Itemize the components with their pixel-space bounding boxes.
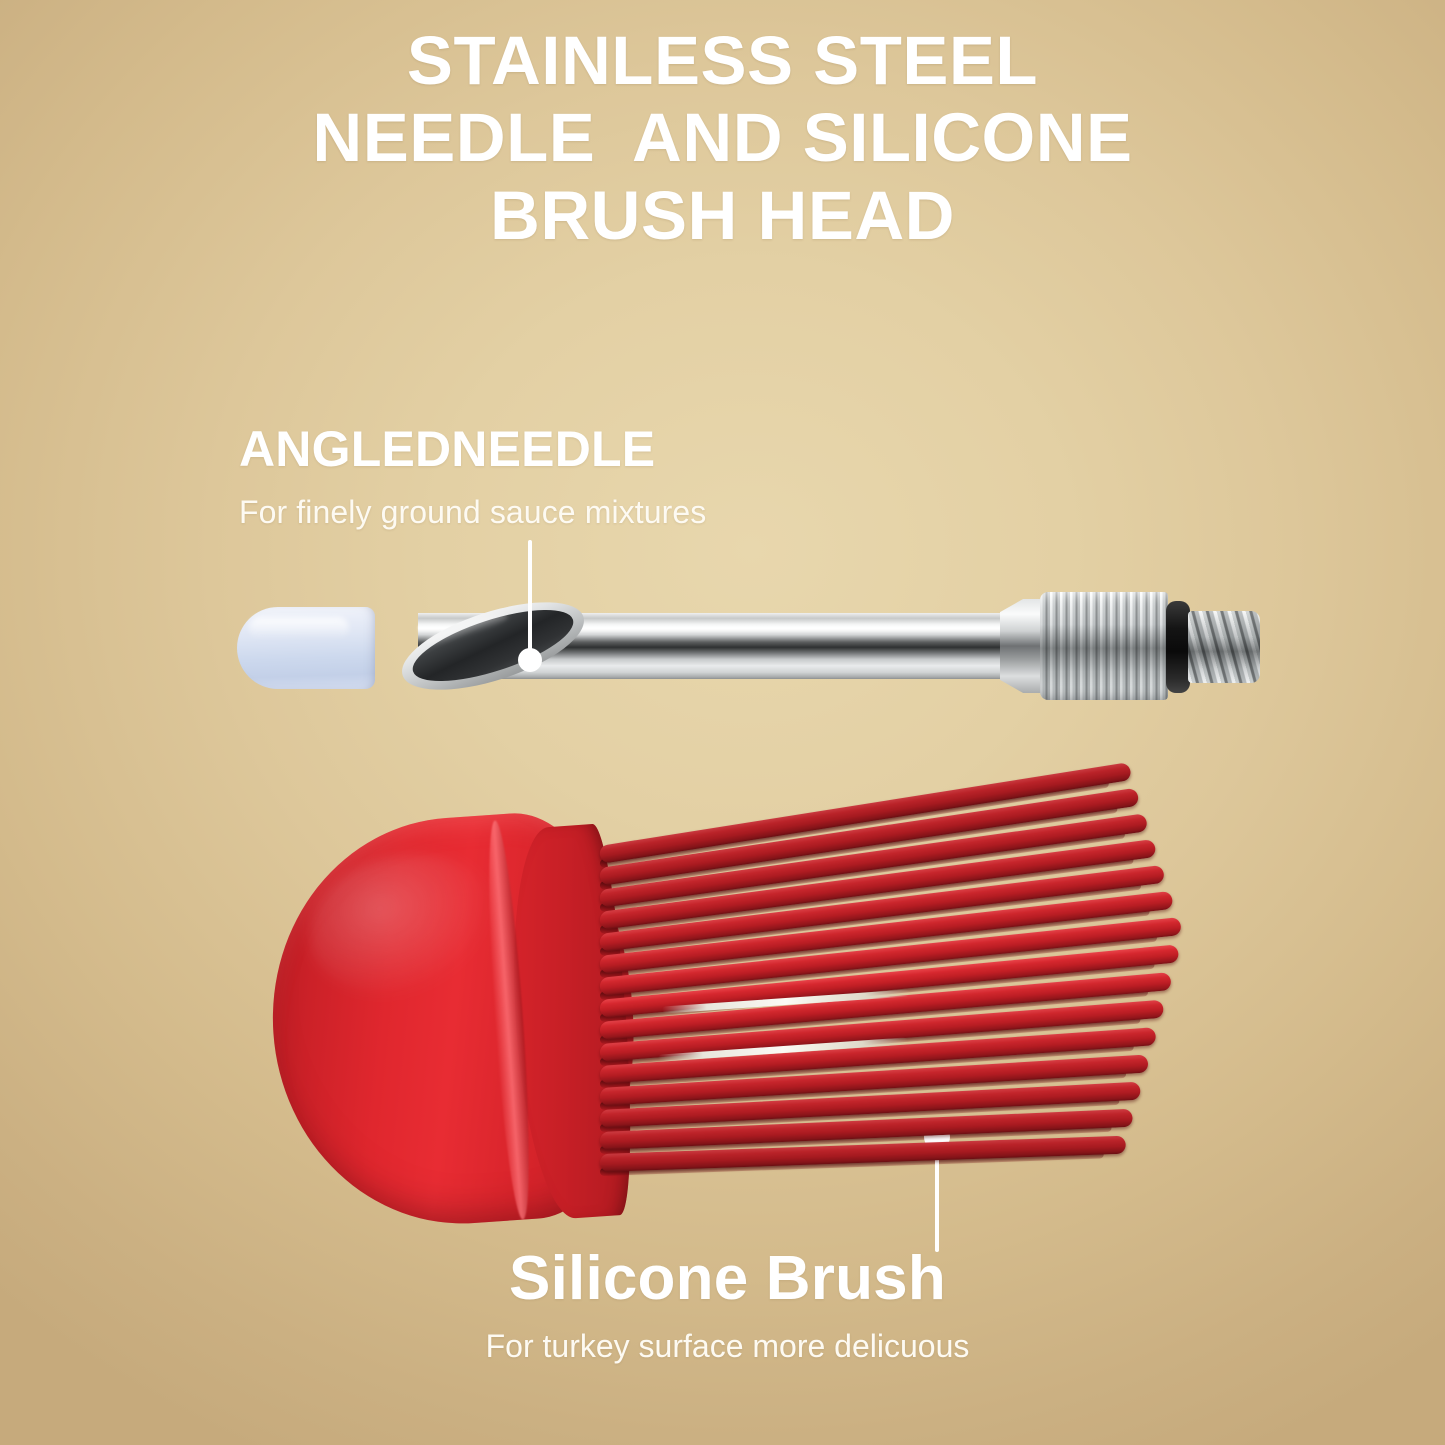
bristle-gap [599,779,1109,867]
bristle-gap [600,1096,1119,1131]
callout-needle-leader-dot [518,648,542,672]
bristle-gap [599,830,1125,912]
bristle [600,1109,1134,1150]
bristle [599,944,1179,1018]
bristle [599,972,1171,1040]
needle-protective-cap [237,607,375,689]
title-line-2: NEEDLE AND SILICONE [0,99,1445,176]
needle-metal-glint [662,989,910,1013]
bristle-gap [600,1015,1141,1066]
bevel-opening [405,595,581,695]
bristle [599,839,1157,930]
bristle [599,1000,1163,1062]
bristle [600,1136,1126,1172]
bristle [599,1027,1156,1084]
bevel-highlight [424,610,510,649]
bristle [599,865,1165,952]
callout-brush-leader-line [935,1140,939,1252]
bevel-outer-rim [392,584,594,707]
brush-collar-band [502,823,639,1222]
callout-brush-subtitle: For turkey surface more delicuous [0,1328,1445,1365]
bristle-gap [600,1123,1112,1153]
needle-shaft [418,613,1018,679]
bristle [599,762,1132,864]
needle-metal-glint [658,1037,908,1061]
page-title: STAINLESS STEEL NEEDLE AND SILICONE BRUS… [0,22,1445,254]
callout-needle-title: ANGLEDNEEDLE [239,420,655,478]
brush-bristle-bundle [600,846,1186,1176]
bristle [599,917,1181,996]
bristle-gap [600,1069,1127,1109]
bristle [599,1054,1148,1106]
callout-brush-title: Silicone Brush [0,1243,1445,1314]
bristle-gap [599,855,1133,933]
bristle-gap [600,933,1158,1000]
product-infographic: STAINLESS STEEL NEEDLE AND SILICONE BRUS… [0,0,1445,1445]
bristle-gap [600,988,1148,1044]
callout-needle-leader-line [528,540,532,662]
needle-screw-thread [1188,611,1260,683]
bristle [600,1082,1141,1128]
needle-o-ring [1166,601,1190,693]
brush-seam-ring [481,820,537,1221]
brush-dome-highlight [296,837,511,1013]
bristle-gap [600,881,1142,955]
brush-dome-base [259,806,646,1236]
title-line-3: BRUSH HEAD [0,177,1445,254]
bristle-gap [600,907,1150,978]
bristle [599,891,1173,974]
needle-collar [1000,599,1042,693]
bristle-gap [600,1042,1134,1087]
bristle-gap [600,960,1155,1021]
callout-needle-subtitle: For finely ground sauce mixtures [239,494,706,531]
bristle-gap [600,1150,1104,1176]
bristle [599,813,1148,908]
title-line-1: STAINLESS STEEL [0,22,1445,99]
needle-angled-bevel-tip [398,612,588,680]
needle-knurled-grip [1040,592,1168,700]
bristle-gap [599,804,1117,889]
bristle [599,788,1140,886]
